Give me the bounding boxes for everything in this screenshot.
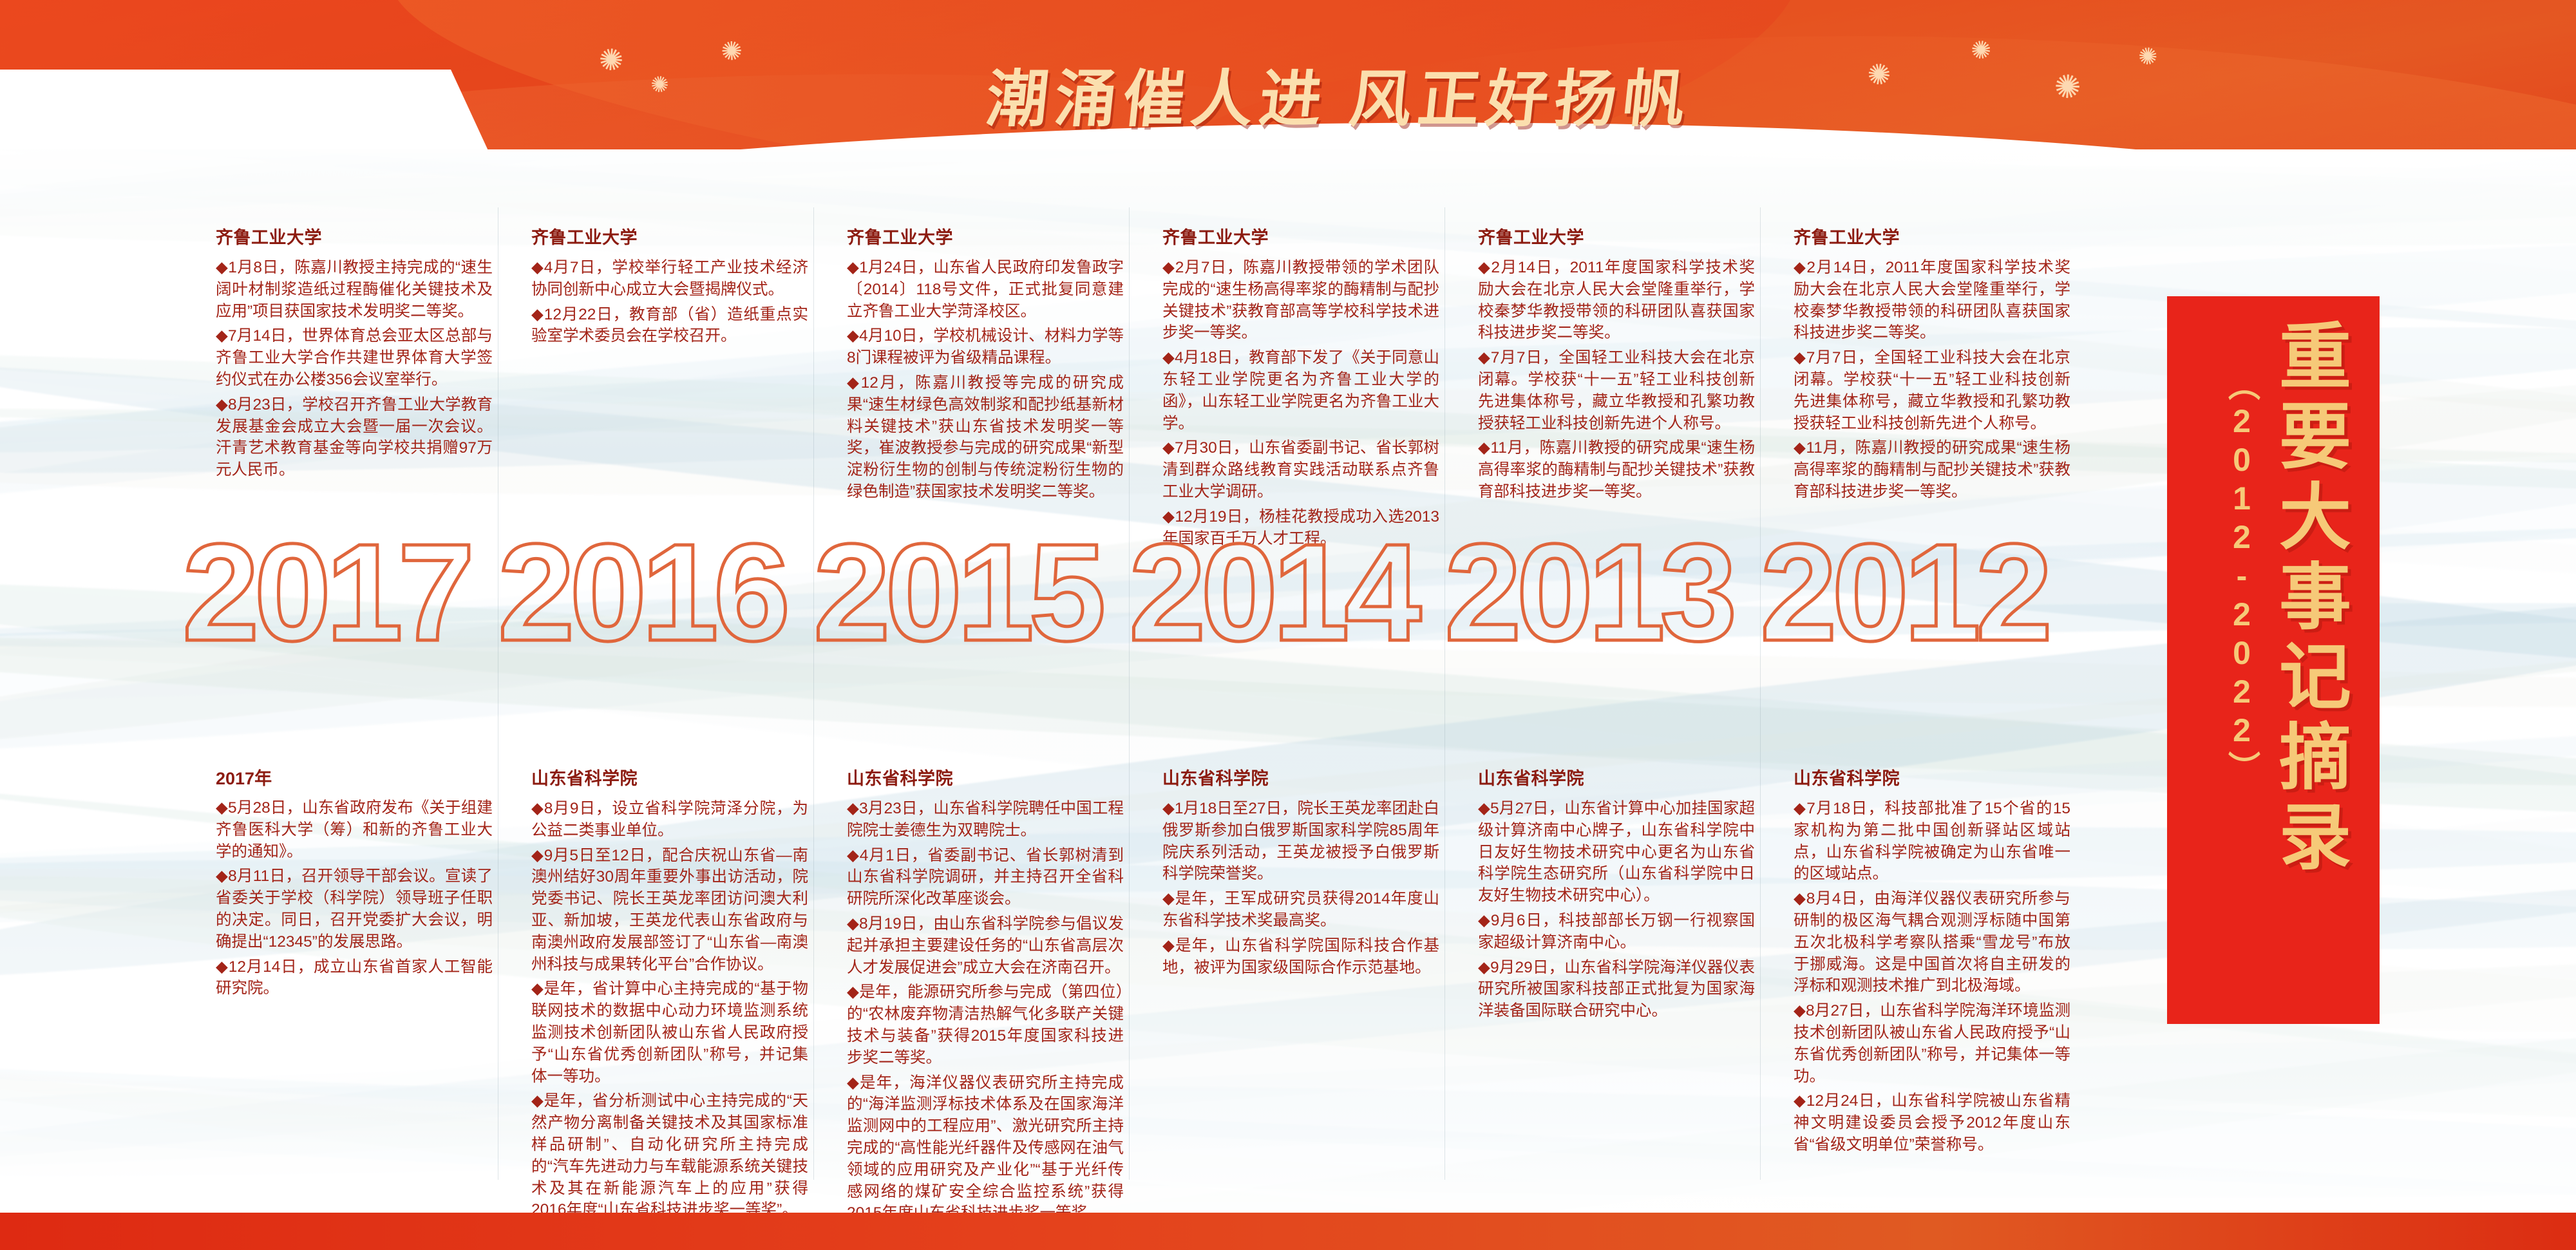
- year-numeral: 2012: [1760, 523, 2095, 661]
- year-column-2015: 齐鲁工业大学◆1月24日，山东省人民政府印发鲁政字〔2014〕118号文件，正式…: [821, 149, 1130, 1213]
- side-title-char: 要: [2268, 398, 2364, 478]
- column-divider: [498, 207, 498, 1180]
- year-column-2014: 齐鲁工业大学◆2月7日，陈嘉川教授带领的学术团队完成的“速生杨高得率浆的酶精制与…: [1137, 149, 1446, 1213]
- org-heading: 齐鲁工业大学: [847, 223, 1124, 249]
- side-title-char: 记: [2268, 638, 2364, 718]
- org-heading: 山东省科学院: [847, 764, 1124, 790]
- event-item: ◆5月28日，山东省政府发布《关于组建齐鲁医科大学（筹）和新的齐鲁工业大学的通知…: [216, 797, 493, 862]
- events-card-bottom: 山东省科学院◆1月18日至27日，院长王英龙率团赴白俄罗斯参加白俄罗斯国家科学院…: [1162, 764, 1439, 981]
- event-item: ◆9月29日，山东省科学院海洋仪器仪表研究所被国家科技部正式批复为国家海洋装备国…: [1478, 957, 1755, 1022]
- year-numeral: 2014: [1129, 523, 1464, 661]
- column-divider: [1129, 207, 1130, 1180]
- year-column-2012: 齐鲁工业大学◆2月14日，2011年度国家科学技术奖励大会在北京人民大会堂隆重举…: [1768, 149, 2077, 1213]
- column-divider: [1444, 207, 1445, 1180]
- events-card-bottom: 山东省科学院◆8月9日，设立省科学院菏泽分院，为公益二类事业单位。◆9月5日至1…: [531, 764, 808, 1224]
- year-numeral: 2013: [1444, 523, 1779, 661]
- event-item: ◆1月8日，陈嘉川教授主持完成的“速生阔叶材制浆造纸过程酶催化关键技术及应用”项…: [216, 257, 493, 322]
- events-card-top: 齐鲁工业大学◆1月24日，山东省人民政府印发鲁政字〔2014〕118号文件，正式…: [847, 223, 1124, 506]
- side-title-char: 录: [2268, 799, 2364, 878]
- event-item: ◆11月，陈嘉川教授的研究成果“速生杨高得率浆的酶精制与配抄关键技术”获教育部科…: [1794, 437, 2070, 502]
- year-column-2013: 齐鲁工业大学◆2月14日，2011年度国家科学技术奖励大会在北京人民大会堂隆重举…: [1452, 149, 1761, 1213]
- events-card-top: 齐鲁工业大学◆2月14日，2011年度国家科学技术奖励大会在北京人民大会堂隆重举…: [1794, 223, 2070, 506]
- event-item: ◆11月，陈嘉川教授的研究成果“速生杨高得率浆的酶精制与配抄关键技术”获教育部科…: [1478, 437, 1755, 502]
- event-item: ◆2月7日，陈嘉川教授带领的学术团队完成的“速生杨高得率浆的酶精制与配抄关键技术…: [1162, 257, 1439, 344]
- event-item: ◆是年，王军成研究员获得2014年度山东省科学技术奖最高奖。: [1162, 888, 1439, 932]
- event-item: ◆4月10日，学校机械设计、材料力学等8门课程被评为省级精品课程。: [847, 325, 1124, 369]
- event-item: ◆是年，海洋仪器仪表研究所主持完成的“海洋监测浮标技术体系及在国家海洋监测网中的…: [847, 1072, 1124, 1225]
- org-heading: 山东省科学院: [1478, 764, 1755, 790]
- banner-headline: 潮涌催人进 风正好扬帆: [890, 45, 1789, 142]
- event-item: ◆2月14日，2011年度国家科学技术奖励大会在北京人民大会堂隆重举行，学校秦梦…: [1478, 257, 1755, 344]
- side-panel-title: 重要大事记摘录: [2268, 318, 2364, 878]
- event-item: ◆12月，陈嘉川教授等完成的研究成果“速生材绿色高效制浆和配抄纸基新材料关键技术…: [847, 372, 1124, 503]
- event-item: ◆1月24日，山东省人民政府印发鲁政字〔2014〕118号文件，正式批复同意建立…: [847, 257, 1124, 322]
- org-heading: 齐鲁工业大学: [1478, 223, 1755, 249]
- side-title-char: 摘: [2268, 719, 2364, 799]
- column-divider: [813, 207, 814, 1180]
- event-item: ◆12月24日，山东省科学院被山东省精神文明建设委员会授予2012年度山东省“省…: [1794, 1090, 2070, 1155]
- events-card-top: 齐鲁工业大学◆4月7日，学校举行轻工产业技术经济协同创新中心成立大会暨揭牌仪式。…: [531, 223, 808, 350]
- footer-bar: [0, 1213, 2576, 1250]
- side-title-char: 事: [2268, 558, 2364, 638]
- event-item: ◆4月1日，省委副书记、省长郭树清到山东省科学院调研，并主持召开全省科研院所深化…: [847, 845, 1124, 910]
- events-card-top: 齐鲁工业大学◆1月8日，陈嘉川教授主持完成的“速生阔叶材制浆造纸过程酶催化关键技…: [216, 223, 493, 484]
- events-card-top: 齐鲁工业大学◆2月7日，陈嘉川教授带领的学术团队完成的“速生杨高得率浆的酶精制与…: [1162, 223, 1439, 553]
- year-column-2016: 齐鲁工业大学◆4月7日，学校举行轻工产业技术经济协同创新中心成立大会暨揭牌仪式。…: [506, 149, 815, 1213]
- org-heading: 山东省科学院: [1162, 764, 1439, 790]
- side-title-char: 重: [2268, 318, 2364, 398]
- event-item: ◆9月6日，科技部部长万钢一行视察国家超级计算济南中心。: [1478, 910, 1755, 954]
- event-item: ◆1月18日至27日，院长王英龙率团赴白俄罗斯参加白俄罗斯国家科学院85周年院庆…: [1162, 798, 1439, 885]
- year-label: 2017年: [216, 764, 493, 790]
- event-item: ◆12月14日，成立山东省首家人工智能研究院。: [216, 956, 493, 1000]
- event-item: ◆8月11日，召开领导干部会议。宣读了省委关于学校（科学院）领导班子任职的决定。…: [216, 866, 493, 952]
- event-item: ◆7月7日，全国轻工业科技大会在北京闭幕。学校获“十一五”轻工业科技创新先进集体…: [1794, 347, 2070, 434]
- event-item: ◆8月4日，由海洋仪器仪表研究所参与研制的极区海气耦合观测浮标随中国第五次北极科…: [1794, 888, 2070, 997]
- poster-root: ✺ ✺ ✺ ✺ ✺ ✺ ✺ 潮涌催人进 风正好扬帆 齐鲁工业大学◆1月8日，陈嘉…: [0, 0, 2576, 1250]
- event-item: ◆2月14日，2011年度国家科学技术奖励大会在北京人民大会堂隆重举行，学校秦梦…: [1794, 257, 2070, 344]
- event-item: ◆9月5日至12日，配合庆祝山东省—南澳州结好30周年重要外事出访活动，院党委书…: [531, 845, 808, 976]
- side-title-panel: 重要大事记摘录 （2012-2022）: [2167, 296, 2380, 1024]
- event-item: ◆7月14日，世界体育总会亚太区总部与齐鲁工业大学合作共建世界体育大学签约仪式在…: [216, 325, 493, 390]
- event-item: ◆是年，山东省科学院国际科技合作基地，被评为国家级国际合作示范基地。: [1162, 935, 1439, 979]
- event-item: ◆8月19日，由山东省科学院参与倡议发起并承担主要建设任务的“山东省高层次人才发…: [847, 913, 1124, 978]
- events-card-bottom: 2017年◆5月28日，山东省政府发布《关于组建齐鲁医科大学（筹）和新的齐鲁工业…: [216, 764, 493, 1003]
- event-item: ◆4月18日，教育部下发了《关于同意山东轻工业学院更名为齐鲁工业大学的函》，山东…: [1162, 347, 1439, 434]
- event-item: ◆8月27日，山东省科学院海洋环境监测技术创新团队被山东省人民政府授予“山东省优…: [1794, 1000, 2070, 1087]
- org-heading: 山东省科学院: [1794, 764, 2070, 790]
- header-banner: ✺ ✺ ✺ ✺ ✺ ✺ ✺ 潮涌催人进 风正好扬帆: [0, 0, 2576, 149]
- events-card-bottom: 山东省科学院◆3月23日，山东省科学院聘任中国工程院院士姜德生为双聘院士。◆4月…: [847, 764, 1124, 1227]
- org-heading: 齐鲁工业大学: [1794, 223, 2070, 249]
- event-item: ◆3月23日，山东省科学院聘任中国工程院院士姜德生为双聘院士。: [847, 798, 1124, 842]
- event-item: ◆7月18日，科技部批准了15个省的15家机构为第二批中国创新驿站区域站点，山东…: [1794, 798, 2070, 885]
- org-heading: 齐鲁工业大学: [531, 223, 808, 249]
- side-title-char: 大: [2268, 478, 2364, 558]
- side-panel-subtitle: （2012-2022）: [2219, 368, 2259, 786]
- org-heading: 山东省科学院: [531, 764, 808, 790]
- org-heading: 齐鲁工业大学: [1162, 223, 1439, 249]
- event-item: ◆12月22日，教育部（省）造纸重点实验室学术委员会在学校召开。: [531, 304, 808, 348]
- event-item: ◆4月7日，学校举行轻工产业技术经济协同创新中心成立大会暨揭牌仪式。: [531, 257, 808, 301]
- year-numeral: 2016: [498, 523, 833, 661]
- events-card-top: 齐鲁工业大学◆2月14日，2011年度国家科学技术奖励大会在北京人民大会堂隆重举…: [1478, 223, 1755, 506]
- event-item: ◆8月23日，学校召开齐鲁工业大学教育发展基金会成立大会暨一届一次会议。汗青艺术…: [216, 394, 493, 481]
- column-divider: [1760, 207, 1761, 1180]
- event-item: ◆7月30日，山东省委副书记、省长郭树清到群众路线教育实践活动联系点齐鲁工业大学…: [1162, 437, 1439, 502]
- org-heading: 齐鲁工业大学: [216, 223, 493, 249]
- event-item: ◆8月9日，设立省科学院菏泽分院，为公益二类事业单位。: [531, 798, 808, 842]
- event-item: ◆是年，能源研究所参与完成（第四位）的“农林废弃物清洁热解气化多联产关键技术与装…: [847, 981, 1124, 1068]
- event-item: ◆是年，省分析测试中心主持完成的“天然产物分离制备关键技术及其国家标准样品研制”…: [531, 1090, 808, 1221]
- event-item: ◆7月7日，全国轻工业科技大会在北京闭幕。学校获“十一五”轻工业科技创新先进集体…: [1478, 347, 1755, 434]
- timeline-columns: 齐鲁工业大学◆1月8日，陈嘉川教授主持完成的“速生阔叶材制浆造纸过程酶催化关键技…: [0, 149, 2145, 1213]
- year-column-2017: 齐鲁工业大学◆1月8日，陈嘉川教授主持完成的“速生阔叶材制浆造纸过程酶催化关键技…: [190, 149, 499, 1213]
- year-numeral: 2017: [182, 523, 517, 661]
- event-item: ◆是年，省计算中心主持完成的“基于物联网技术的数据中心动力环境监测系统监测技术创…: [531, 978, 808, 1087]
- events-card-bottom: 山东省科学院◆7月18日，科技部批准了15个省的15家机构为第二批中国创新驿站区…: [1794, 764, 2070, 1159]
- year-numeral: 2015: [813, 523, 1148, 661]
- event-item: ◆5月27日，山东省计算中心加挂国家超级计算济南中心牌子，山东省科学院中日友好生…: [1478, 798, 1755, 907]
- banner-white-wedge: [0, 70, 489, 149]
- events-card-bottom: 山东省科学院◆5月27日，山东省计算中心加挂国家超级计算济南中心牌子，山东省科学…: [1478, 764, 1755, 1025]
